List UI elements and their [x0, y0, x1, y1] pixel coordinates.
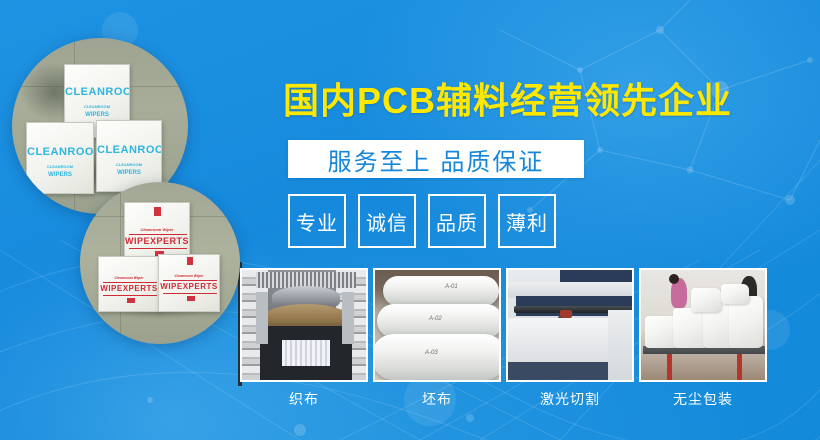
promotional-banner: CLEANROOM CLEANROOM WIPERS CLEANROOM CLE… — [0, 0, 820, 440]
worker-figure — [669, 274, 679, 284]
pack-sub-label-2: WIPERS — [27, 172, 93, 178]
pack-sub-label-2: WIPERS — [65, 112, 129, 118]
feature-tag-quality: 品质 — [428, 194, 486, 248]
box-sub-label: Cleanroom Wiper — [125, 228, 189, 232]
banner-subtitle-text: 服务至上 品质保证 — [328, 142, 545, 177]
pack-sub-label-1: CLEANROOM — [97, 163, 161, 167]
process-caption: 织布 — [240, 389, 368, 409]
process-thumb-greige-fabric: A-01 A-02 A-03 — [373, 268, 501, 382]
pack-sub-label-2: WIPERS — [97, 170, 161, 176]
process-item-greige-fabric: A-01 A-02 A-03 坯布 — [373, 268, 501, 409]
product-photo-wipexperts: Cleanroom Wiper WIPEXPERTS Cleanroom Wip… — [80, 182, 240, 344]
process-thumb-weaving — [240, 268, 368, 382]
feature-tag-label: 品质 — [436, 207, 478, 236]
box-brand-label: WIPEXPERTS — [125, 237, 189, 246]
process-thumb-laser-cutting — [506, 268, 634, 382]
process-photo-row: 织布 A-01 A-02 A-03 坯布 — [240, 268, 768, 409]
process-item-weaving: 织布 — [240, 268, 368, 409]
pack-brand-label: CLEANROOM — [97, 145, 161, 156]
feature-tag-low-margin: 薄利 — [498, 194, 556, 248]
feature-tag-label: 专业 — [296, 207, 338, 236]
feature-tag-list: 专业 诚信 品质 薄利 — [288, 194, 556, 248]
pack-brand-label: CLEANROOM — [27, 147, 93, 158]
process-item-laser-cutting: 激光切割 — [506, 268, 634, 409]
wipexperts-box: Cleanroom Wiper WIPEXPERTS — [158, 254, 220, 312]
banner-subtitle-bar: 服务至上 品质保证 — [288, 140, 584, 178]
box-brand-label: WIPEXPERTS — [99, 285, 159, 293]
box-sub-label: Cleanroom Wiper — [99, 277, 159, 281]
wipexperts-box: Cleanroom Wiper WIPEXPERTS — [98, 256, 160, 312]
feature-tag-label: 薄利 — [506, 207, 548, 236]
process-thumb-cleanroom-packing — [639, 268, 767, 382]
process-item-cleanroom-packing: 无尘包装 — [639, 268, 767, 409]
feature-tag-integrity: 诚信 — [358, 194, 416, 248]
feature-tag-label: 诚信 — [366, 207, 408, 236]
box-sub-label: Cleanroom Wiper — [159, 275, 219, 279]
banner-headline: 国内PCB辅料经营领先企业 — [283, 72, 783, 124]
pack-brand-label: CLEANROOM — [65, 87, 129, 98]
box-brand-label: WIPEXPERTS — [159, 283, 219, 291]
feature-tag-professional: 专业 — [288, 194, 346, 248]
pack-sub-label-1: CLEANROOM — [27, 165, 93, 169]
process-caption: 无尘包装 — [639, 389, 767, 409]
process-caption: 坯布 — [373, 389, 501, 409]
process-caption: 激光切割 — [506, 389, 634, 409]
pack-sub-label-1: CLEANROOM — [65, 105, 129, 109]
